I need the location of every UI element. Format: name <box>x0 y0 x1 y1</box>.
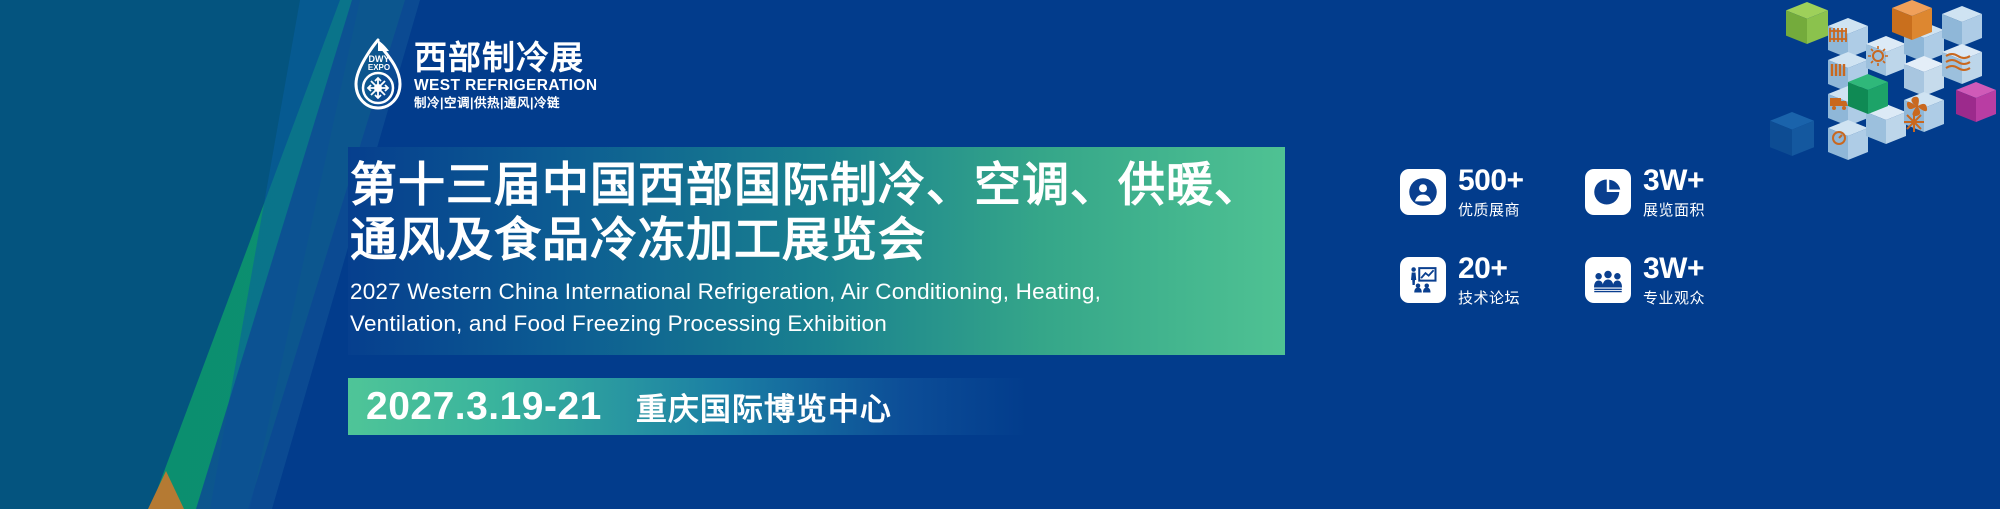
stat-area-text: 3W+ 展览面积 <box>1643 166 1705 218</box>
stat-visitors-number: 3W+ <box>1643 254 1705 284</box>
event-title-cn-line1: 第十三届中国西部国际制冷、空调、供暖、 <box>350 157 1285 212</box>
stat-area: 3W+ 展览面积 <box>1585 148 1770 236</box>
stat-visitors: 3W+ 专业观众 <box>1585 236 1770 324</box>
stat-exhibitors-label: 优质展商 <box>1458 203 1524 218</box>
date-venue-bar: 2027.3.19-21 重庆国际博览中心 <box>348 378 1028 435</box>
stat-forums-text: 20+ 技术论坛 <box>1458 254 1520 306</box>
cube-magenta <box>1956 82 1996 122</box>
event-title-en-line2: Ventilation, and Food Freezing Processin… <box>350 308 1285 340</box>
pie-chart-icon <box>1585 169 1631 215</box>
stat-forums: 20+ 技术论坛 <box>1400 236 1585 324</box>
stat-visitors-label: 专业观众 <box>1643 291 1705 306</box>
event-venue: 重庆国际博览中心 <box>636 384 892 429</box>
exhibitor-badge-icon <box>1400 169 1446 215</box>
svg-text:EXPO: EXPO <box>368 63 390 72</box>
3d-cube-cluster <box>1770 0 2000 170</box>
stat-area-label: 展览面积 <box>1643 203 1705 218</box>
stat-forums-label: 技术论坛 <box>1458 291 1520 306</box>
cube-green <box>1786 2 1828 44</box>
event-title-en-line1: 2027 Western China International Refrige… <box>350 276 1285 308</box>
stat-exhibitors: 500+ 优质展商 <box>1400 148 1585 236</box>
cube-orange <box>1892 0 1932 40</box>
event-title-block: 第十三届中国西部国际制冷、空调、供暖、 通风及食品冷冻加工展览会 2027 We… <box>348 147 1285 355</box>
logo-text-group: 西部制冷展 WEST REFRIGERATION 制冷|空调|供热|通风|冷链 <box>414 41 597 110</box>
logo-tagline: 制冷|空调|供热|通风|冷链 <box>414 97 597 110</box>
logo-name-en: WEST REFRIGERATION <box>414 78 597 94</box>
stat-visitors-text: 3W+ 专业观众 <box>1643 254 1705 306</box>
event-title-cn-line2: 通风及食品冷冻加工展览会 <box>350 212 1285 267</box>
cube-blue <box>1770 112 1814 156</box>
stat-exhibitors-number: 500+ <box>1458 166 1524 196</box>
stat-area-number: 3W+ <box>1643 166 1705 196</box>
forum-presentation-icon <box>1400 257 1446 303</box>
stats-grid: 500+ 优质展商 3W+ 展览面积 <box>1400 148 1770 324</box>
logo-name-cn: 西部制冷展 <box>414 41 597 74</box>
expo-banner: DWY EXPO 西部制冷展 WEST REFRIGERATION 制冷|空调|… <box>0 0 2000 509</box>
stat-exhibitors-text: 500+ 优质展商 <box>1458 166 1524 218</box>
expo-logo[interactable]: DWY EXPO 西部制冷展 WEST REFRIGERATION 制冷|空调|… <box>348 36 597 114</box>
cube-cluster-svg <box>1770 0 2000 170</box>
event-date: 2027.3.19-21 <box>366 385 602 429</box>
orange-triangle-accent <box>148 471 184 509</box>
water-drop-snowflake-logo-icon: DWY EXPO <box>348 36 406 114</box>
audience-group-icon <box>1585 257 1631 303</box>
stat-forums-number: 20+ <box>1458 254 1520 284</box>
cube-green-mid <box>1848 74 1888 114</box>
